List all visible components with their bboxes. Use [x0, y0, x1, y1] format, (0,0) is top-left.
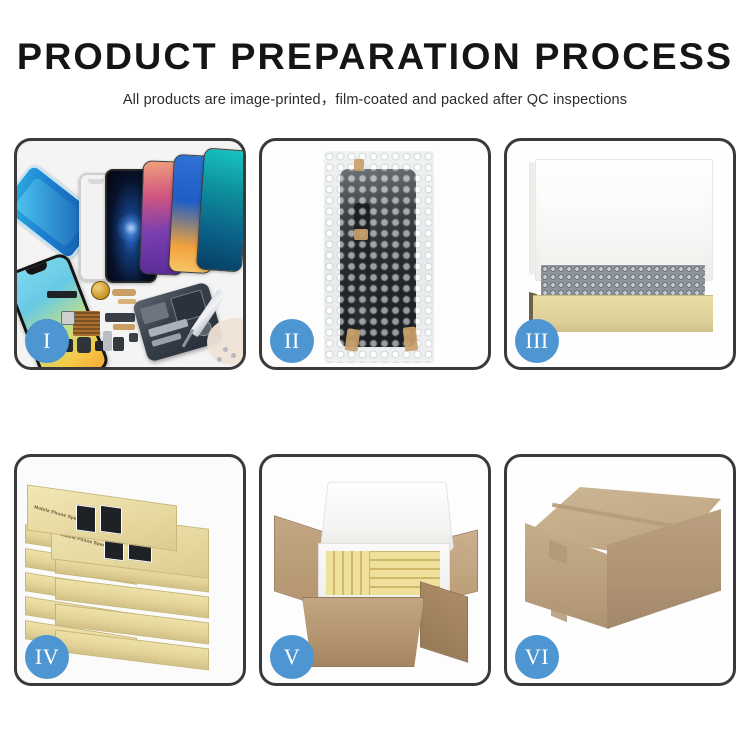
screw-icon	[223, 347, 228, 352]
tape-piece-icon	[354, 159, 364, 171]
tiny-part-icon	[129, 333, 138, 342]
screw-icon	[217, 357, 222, 362]
gold-flex-icon	[113, 324, 135, 330]
teal-gradient-phone-icon	[196, 148, 243, 273]
step-badge-6: VI	[515, 635, 559, 679]
box-screen-image-icon	[76, 504, 96, 533]
flex-cable-small-icon	[118, 299, 136, 304]
camera-module-icon	[77, 337, 91, 353]
vibrator-part-icon	[113, 337, 124, 351]
connector-board-icon	[105, 313, 135, 322]
flex-cable-icon	[112, 289, 136, 296]
tape-piece-icon	[403, 326, 418, 351]
chip-grid-icon	[73, 311, 100, 336]
part-strip-icon	[47, 291, 77, 298]
process-steps-grid: I II	[14, 138, 736, 686]
step-card-1: I	[14, 138, 246, 370]
box-screen-image-icon	[100, 505, 122, 535]
screw-icon	[231, 353, 236, 358]
step-badge-3: III	[515, 319, 559, 363]
metal-shield-icon	[103, 331, 112, 351]
step-card-4: Mobile Phone Spare Parts Mobile Phone Sp…	[14, 454, 246, 686]
yellow-box-front-icon	[533, 295, 713, 332]
grey-bubble-wrap-icon	[541, 265, 705, 297]
foam-lid-icon	[320, 482, 454, 551]
step-card-3: III	[504, 138, 736, 370]
gold-component-icon	[91, 281, 110, 300]
step-card-6: VI	[504, 454, 736, 686]
carton-front-icon	[302, 597, 424, 667]
step-card-2: II	[259, 138, 491, 370]
product-preparation-page: PRODUCT PREPARATION PROCESS All products…	[0, 0, 750, 750]
step-badge-5: V	[270, 635, 314, 679]
step-badge-4: IV	[25, 635, 69, 679]
bubble-wrap-overlay-icon	[324, 151, 434, 363]
foam-sheet-icon	[541, 193, 705, 269]
step-badge-1: I	[25, 319, 69, 363]
page-header: PRODUCT PREPARATION PROCESS All products…	[0, 0, 750, 109]
page-subtitle: All products are image-printed，film-coat…	[0, 88, 750, 109]
tape-piece-icon	[354, 229, 368, 240]
step-badge-2: II	[270, 319, 314, 363]
step-card-5: V	[259, 454, 491, 686]
sim-tray-icon	[61, 311, 75, 325]
page-title: PRODUCT PREPARATION PROCESS	[0, 38, 750, 75]
